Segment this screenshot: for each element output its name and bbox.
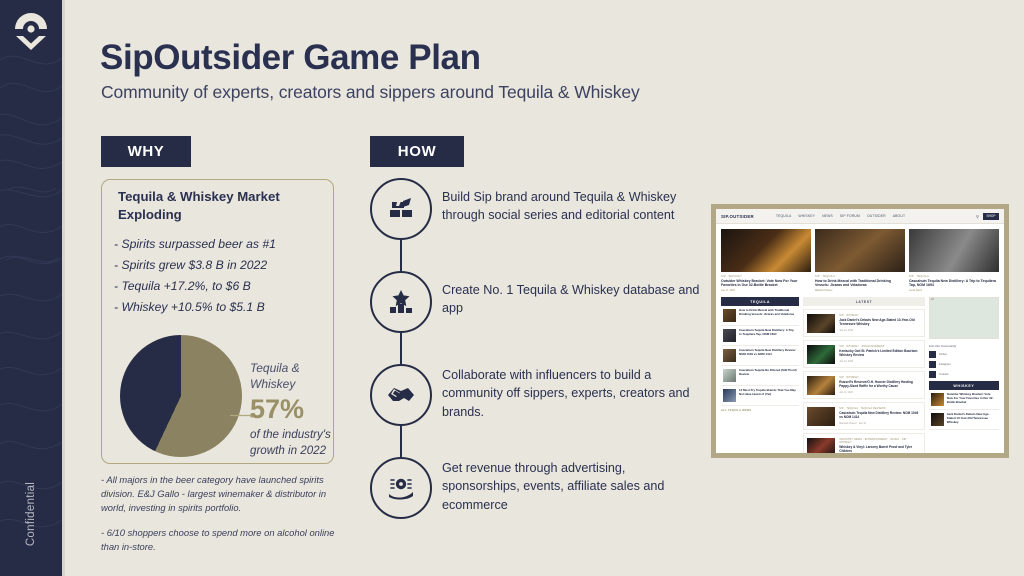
feed-meta: Jan 13, 2023 <box>839 329 921 332</box>
feed-title: Jack Daniel's Debuts New Age-Stated 10-Y… <box>839 318 921 327</box>
mock-menu-item[interactable]: TEQUILA <box>776 214 792 218</box>
hero-meta: Lucas Davis <box>909 289 999 292</box>
step-connector <box>400 333 402 364</box>
list-item[interactable]: Jack Daniel's Debuts New Age-Stated 10-Y… <box>929 410 999 430</box>
thumbnail <box>931 393 944 406</box>
why-bullet: - Spirits surpassed beer as #1 <box>114 234 326 255</box>
feed-meta: Jan 12, 2023 <box>839 360 921 363</box>
hero-image <box>815 229 905 272</box>
callout-subtext: of the industry's growth in 2022 <box>250 427 340 458</box>
mock-nav-right: ⚲ SHOP <box>976 213 999 220</box>
how-step-3[interactable]: Collaborate with influencers to build a … <box>370 364 700 426</box>
list-item-title: Cascahuin Tequila New Distillery: A Trip… <box>739 329 797 342</box>
pie-slices <box>120 335 242 457</box>
feed-item[interactable]: SIP · WHISKEY · ANNOUNCEMENT Kentucky Ow… <box>803 340 925 368</box>
hero-kicker: SIP · TEQUILA <box>815 275 905 278</box>
how-step-4[interactable]: Get revenue through advertising, sponsor… <box>370 457 700 519</box>
mock-navbar: SIP.OUTSIDER TEQUILA WHISKEY NEWS SIP FO… <box>716 209 1004 224</box>
footnote: - 6/10 shoppers choose to spend more on … <box>101 526 346 554</box>
mock-menu: TEQUILA WHISKEY NEWS SIP FORUM OUTSIDER … <box>776 214 905 218</box>
footnote: - All majors in the beer category have l… <box>101 473 346 515</box>
step-text: Build Sip brand around Tequila & Whiskey… <box>442 188 700 225</box>
thumbnail <box>807 314 835 333</box>
hero-kicker: SIP · TEQUILA <box>909 275 999 278</box>
list-item-title: Cascahuin Tequila New Distillery Review:… <box>739 349 797 362</box>
mock-menu-item[interactable]: SIP FORUM <box>840 214 860 218</box>
social-link[interactable]: Instagram <box>929 361 999 368</box>
mock-right-column: AD Join Our Community Twitter Instagram … <box>929 297 999 453</box>
mock-menu-item[interactable]: NEWS <box>822 214 833 218</box>
mock-menu-item[interactable]: WHISKEY <box>798 214 815 218</box>
website-mockup[interactable]: SIP.OUTSIDER TEQUILA WHISKEY NEWS SIP FO… <box>716 209 1004 453</box>
why-card-heading: Tequila & Whiskey Market Exploding <box>118 188 318 224</box>
how-steps: Build Sip brand around Tequila & Whiskey… <box>370 178 700 538</box>
list-item-title: How to Drink Mezcal with Traditional Dri… <box>739 309 797 322</box>
all-news-link[interactable]: ALL TEQUILA NEWS <box>721 409 799 412</box>
list-item-title: Outsider Whiskey Bracket: Vote Now For Y… <box>947 393 997 406</box>
list-item[interactable]: 12 Must-Try Tequila Brands That You May … <box>721 386 799 406</box>
instagram-icon <box>929 361 936 368</box>
page-subtitle: Community of experts, creators and sippe… <box>101 82 640 103</box>
list-item-title: Cascahuin Tequila No Filtered (Still Pro… <box>739 369 797 382</box>
mock-body: TEQUILA How to Drink Mezcal with Traditi… <box>716 297 1004 453</box>
thumbnail <box>807 376 835 395</box>
hero-card[interactable]: SIP · WHISKEY Outsider Whiskey Bracket: … <box>721 229 811 292</box>
mock-menu-item[interactable]: OUTSIDER <box>867 214 886 218</box>
feed-title: Kentucky Owl St. Patrick's Limited Editi… <box>839 349 921 358</box>
feed-kicker: SIP · TEQUILA · TEQUILA REVIEWS <box>839 407 921 410</box>
hero-image <box>721 229 811 272</box>
thumbnail <box>931 413 944 426</box>
social-name: Instagram <box>939 363 951 366</box>
why-bullet: - Spirits grew $3.8 B in 2022 <box>114 255 326 276</box>
search-icon[interactable]: ⚲ <box>976 214 979 219</box>
feed-item[interactable]: SIP · TEQUILA · TEQUILA REVIEWS Cascahui… <box>803 402 925 430</box>
growth-pie-chart <box>120 335 242 457</box>
pie-callout: Tequila & Whiskey 57% of the industry's … <box>250 360 340 458</box>
feed-item[interactable]: INDUSTRY NEWS · ENTERTAINMENT · MUSIC · … <box>803 433 925 453</box>
hero-card[interactable]: SIP · TEQUILA How to Drink Mezcal with T… <box>815 229 905 292</box>
step-icon-circle <box>370 271 432 333</box>
why-card: Tequila & Whiskey Market Exploding - Spi… <box>101 179 334 464</box>
star-podium-icon <box>386 287 416 317</box>
social-name: Twitter <box>939 353 947 356</box>
list-item-title: Jack Daniel's Debuts New Age-Stated 10-Y… <box>947 413 997 426</box>
thumbnail <box>723 329 736 342</box>
hero-meta: Jan 17, 2023 <box>721 289 811 292</box>
thumbnail <box>723 369 736 382</box>
list-item[interactable]: How to Drink Mezcal with Traditional Dri… <box>721 306 799 326</box>
mock-cta-button[interactable]: SHOP <box>983 213 999 220</box>
how-step-2[interactable]: Create No. 1 Tequila & Whiskey database … <box>370 271 700 333</box>
hero-card[interactable]: SIP · TEQUILA Cascahuin Tequila New Dist… <box>909 229 999 292</box>
feed-title: Whiskey & Vinyl: Larceny Barrel Proof an… <box>839 445 921 453</box>
feed-kicker: SIP · WHISKEY <box>839 314 921 317</box>
why-bullet-list: - Spirits surpassed beer as #1 - Spirits… <box>114 234 326 318</box>
social-link[interactable]: Youtube <box>929 371 999 378</box>
section-header-whiskey: WHISKEY <box>929 381 999 390</box>
list-item-title: 12 Must-Try Tequila Brands That You May … <box>739 389 797 402</box>
twitter-icon <box>929 351 936 358</box>
step-text: Collaborate with influencers to build a … <box>442 366 700 421</box>
mock-logo[interactable]: SIP.OUTSIDER <box>721 214 754 219</box>
feed-kicker: INDUSTRY NEWS · ENTERTAINMENT · MUSIC · … <box>839 438 921 444</box>
step-icon-circle <box>370 364 432 426</box>
mock-hero-row: SIP · WHISKEY Outsider Whiskey Bracket: … <box>716 224 1004 297</box>
confidential-label: Confidential <box>25 464 37 564</box>
why-bullet: - Whiskey +10.5% to $5.1 B <box>114 297 326 318</box>
section-badge-why: WHY <box>101 136 191 167</box>
thumbnail <box>807 345 835 364</box>
mock-feed-column: LATEST SIP · WHISKEY Jack Daniel's Debut… <box>803 297 925 453</box>
social-link[interactable]: Twitter <box>929 351 999 358</box>
feed-meta: Marietta Chavez · Jan 10 <box>839 422 921 425</box>
list-item[interactable]: Cascahuin Tequila New Distillery: A Trip… <box>721 326 799 346</box>
list-item[interactable]: Cascahuin Tequila New Distillery Review:… <box>721 346 799 366</box>
hero-title[interactable]: How to Drink Mezcal with Traditional Dri… <box>815 279 905 288</box>
handshake-icon <box>385 379 417 411</box>
step-connector <box>400 240 402 271</box>
social-heading: Join Our Community <box>929 344 999 348</box>
thumbnail <box>723 349 736 362</box>
website-mockup-frame: SIP.OUTSIDER TEQUILA WHISKEY NEWS SIP FO… <box>711 204 1009 458</box>
how-step-1[interactable]: Build Sip brand around Tequila & Whiskey… <box>370 178 700 240</box>
callout-label: Tequila & Whiskey <box>250 360 340 392</box>
hero-kicker: SIP · WHISKEY <box>721 275 811 278</box>
list-item[interactable]: Outsider Whiskey Bracket: Vote Now For Y… <box>929 390 999 410</box>
page-title: SipOutsider Game Plan <box>100 38 481 78</box>
step-text: Get revenue through advertising, sponsor… <box>442 459 700 514</box>
hero-title[interactable]: Cascahuin Tequila New Distillery: A Trip… <box>909 279 999 288</box>
ad-label: AD <box>931 298 934 301</box>
map-pin-logo-icon <box>8 9 54 55</box>
thumbnail <box>723 309 736 322</box>
step-text: Create No. 1 Tequila & Whiskey database … <box>442 281 700 318</box>
why-bullet: - Tequila +17.2%, to $6 B <box>114 276 326 297</box>
social-name: Youtube <box>939 373 949 376</box>
step-icon-circle <box>370 457 432 519</box>
youtube-icon <box>929 371 936 378</box>
hero-meta: Marietta Chavez <box>815 289 905 292</box>
step-icon-circle <box>370 178 432 240</box>
ad-banner[interactable]: AD <box>929 297 999 339</box>
thumbnail <box>807 438 835 453</box>
feed-item[interactable]: SIP · WHISKEY Jack Daniel's Debuts New A… <box>803 309 925 337</box>
thumbnail <box>807 407 835 426</box>
bricks-trowel-icon <box>386 194 416 224</box>
section-badge-how: HOW <box>370 136 464 167</box>
rail-edge-divider <box>62 0 65 576</box>
left-rail: Confidential <box>0 0 62 576</box>
section-header-tequila: TEQUILA <box>721 297 799 306</box>
hand-coin-icon <box>385 472 417 504</box>
feed-meta: Jan 11, 2023 <box>839 391 921 394</box>
mock-menu-item[interactable]: ABOUT <box>893 214 905 218</box>
feed-title: Russell's Reserve/O.H. Hoover Distillery… <box>839 380 921 389</box>
hero-image <box>909 229 999 272</box>
feed-kicker: SIP · WHISKEY · ANNOUNCEMENT <box>839 345 921 348</box>
feed-item[interactable]: SIP · WHISKEY Russell's Reserve/O.H. Hoo… <box>803 371 925 399</box>
why-footnotes: - All majors in the beer category have l… <box>101 473 346 555</box>
feed-title: Cascahuin Tequila New Distillery Review:… <box>839 411 921 420</box>
step-connector <box>400 426 402 457</box>
feed-kicker: SIP · WHISKEY <box>839 376 921 379</box>
thumbnail <box>723 389 736 402</box>
slide: Confidential SipOutsider Game Plan Commu… <box>0 0 1024 576</box>
mock-left-column: TEQUILA How to Drink Mezcal with Traditi… <box>721 297 799 453</box>
list-item[interactable]: Cascahuin Tequila No Filtered (Still Pro… <box>721 366 799 386</box>
hero-title[interactable]: Outsider Whiskey Bracket: Vote Now For Y… <box>721 279 811 288</box>
callout-percentage: 57% <box>250 395 340 425</box>
section-header-latest: LATEST <box>803 297 925 306</box>
